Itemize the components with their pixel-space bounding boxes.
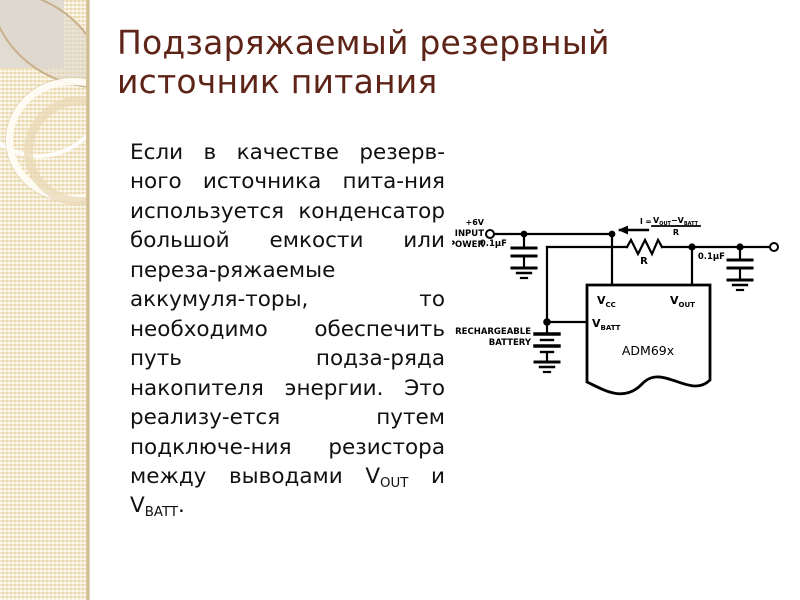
ground-symbol-battery [535, 362, 559, 372]
chip-label: ADM69x [622, 343, 674, 358]
formula-vout-subscript: OUT [659, 221, 671, 227]
ground-symbol-right [728, 280, 752, 290]
battery-label-line1: RECHARGEABLE [455, 327, 531, 337]
pin-label-vout: VOUT [670, 294, 695, 309]
junction-dot-vout [688, 243, 695, 250]
junction-dot-vcc [609, 231, 616, 238]
pin-vcc-subscript: CC [606, 301, 616, 309]
v-out-subscript: OUT [380, 476, 408, 491]
v-out-symbol: VOUT [365, 464, 408, 489]
v-batt-letter: V [130, 493, 145, 518]
terminal-output [770, 243, 778, 251]
sidebar-edge-line [86, 0, 90, 600]
body-paragraph-text: Если в качестве резерв-ного источника пи… [130, 140, 445, 489]
sidebar-decoration [0, 0, 90, 600]
pin-label-vbatt: VBATT [592, 317, 621, 332]
ground-symbol-left [512, 268, 536, 278]
capacitor-left-label: 0.1µF [480, 239, 507, 249]
circuit-diagram-image: +6V INPUT POWER 0.1µF 0.1µF R RECHARGEAB… [452, 212, 792, 410]
input-power-label-line1: INPUT [455, 229, 484, 239]
formula-denominator: R [673, 228, 679, 237]
sentence-period: . [178, 493, 185, 518]
body-paragraph: Если в качестве резерв-ного источника пи… [130, 138, 445, 521]
input-voltage-label: +6V [466, 218, 485, 227]
formula-current-label: I = [640, 217, 652, 226]
resistor-label: R [640, 256, 648, 267]
battery-symbol [535, 334, 559, 352]
junction-dot-battery [543, 318, 551, 326]
formula-vbatt-subscript: BATT [684, 221, 699, 227]
battery-label-line2: BATTERY [489, 338, 532, 348]
pin-vbatt-subscript: BATT [601, 324, 621, 332]
v-batt-subscript: BATT [145, 505, 178, 520]
conjunction-text: и [408, 464, 445, 489]
formula-minus-sign: − [671, 216, 678, 225]
capacitor-right-label: 0.1µF [698, 252, 725, 262]
v-out-letter: V [365, 464, 380, 489]
terminal-input [486, 230, 494, 238]
pin-vout-subscript: OUT [679, 301, 696, 309]
v-batt-symbol: VBATT [130, 493, 178, 518]
resistor-symbol [627, 240, 662, 254]
page-title: Подзаряжаемый резервный источник питания [117, 24, 757, 102]
junction-dot-cap-right [736, 243, 743, 250]
current-arrow-head [618, 226, 628, 235]
pin-label-vcc: VCC [597, 294, 616, 309]
junction-dot-input [521, 231, 528, 238]
